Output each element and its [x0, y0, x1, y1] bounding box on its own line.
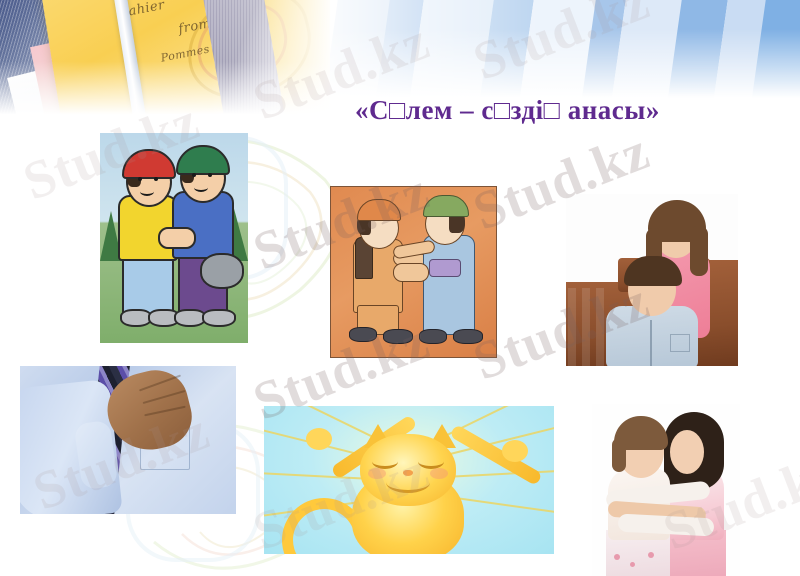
- p2-childB-shoe-right: [453, 329, 483, 344]
- p1-boyB-eye-left: [192, 173, 196, 177]
- picture-girls-hugging: [592, 404, 740, 576]
- p6-floral-dot-3: [648, 552, 654, 558]
- p1-boyB-bag: [200, 253, 244, 289]
- header-stripes-fade: [330, 0, 800, 104]
- p1-boyB-smile: [194, 183, 208, 192]
- p1-boyA-smile: [140, 187, 154, 196]
- p5-cheek-right: [430, 468, 448, 479]
- p1-boyB-shoe-right: [202, 309, 236, 327]
- p5-mouth: [386, 472, 430, 493]
- p1-boyA-eye-left: [138, 177, 142, 181]
- p1-boyB-eye-right: [208, 173, 212, 177]
- p6-girlB-face: [670, 430, 704, 474]
- picture-children-traditional-handshake: [330, 186, 497, 358]
- p1-handshake: [158, 227, 196, 249]
- p2-childA-shoe-right: [383, 329, 413, 344]
- p5-eye-left: [372, 454, 398, 469]
- page-title: «С□лем – с□здi□ анасы»: [355, 95, 755, 126]
- p5-paw-left: [306, 428, 332, 450]
- p2-childB-sash: [429, 259, 461, 277]
- p2-childB-shoe-left: [419, 329, 447, 344]
- p6-floral-dot-1: [614, 554, 620, 560]
- p5-cheek-left: [368, 468, 386, 479]
- p3-girl-hair-strand-right: [690, 226, 708, 276]
- header-fade-overlay: [0, 0, 340, 118]
- p1-boyA-eye-right: [154, 177, 158, 181]
- picture-girl-and-boy-bench: [566, 194, 738, 366]
- p3-boy-shirt-placket: [650, 320, 652, 366]
- p5-eye-right: [418, 454, 444, 469]
- header-notebook-artwork: Cahier fromages Pommes de terre: [0, 0, 340, 118]
- p6-floral-dot-2: [630, 562, 635, 567]
- presentation-slide: Cahier fromages Pommes de terre: [0, 0, 800, 576]
- p3-bench-slat-1: [568, 288, 576, 366]
- picture-cartoon-cat-welcome: [264, 406, 554, 554]
- header-blue-stripes: [330, 0, 800, 104]
- p3-boy-shirt-pocket: [670, 334, 690, 352]
- p2-handshake: [393, 263, 429, 282]
- p5-paw-right: [502, 440, 528, 462]
- p3-bench-slat-2: [582, 288, 590, 366]
- p3-bench-slat-3: [596, 288, 604, 366]
- p6-girlA-hair-side: [612, 438, 626, 472]
- picture-hand-on-heart: [20, 366, 236, 514]
- picture-two-boys-handshake: [100, 133, 248, 343]
- p2-childA-shoe-left: [349, 327, 377, 342]
